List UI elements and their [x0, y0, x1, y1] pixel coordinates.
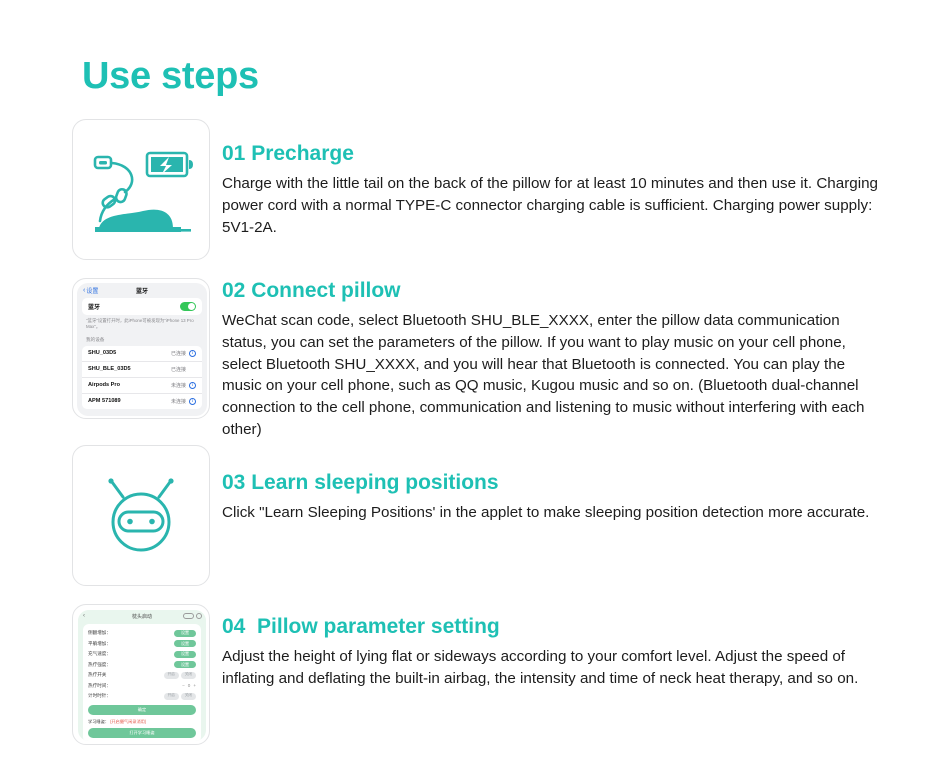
app-row-option-off[interactable]: 关闭: [181, 672, 196, 679]
step-02-body: 02 Connect pillow WeChat scan code, sele…: [222, 278, 882, 441]
step-02-thumbnail: ‹ 设置 蓝牙 蓝牙 "蓝牙"设置打开时，此iPhone可被发现为"iPhone…: [72, 278, 210, 419]
step-item-03: 03 Learn sleeping positions Click "Learn…: [72, 445, 882, 586]
bt-toggle-row[interactable]: 蓝牙: [82, 298, 202, 315]
step-01-text: Charge with the little tail on the back …: [222, 173, 882, 238]
bt-nav-title: 蓝牙: [77, 286, 207, 295]
app-row-label: 热疗开关: [88, 672, 106, 678]
step-item-01: 01 Precharge Charge with the little tail…: [72, 119, 882, 260]
bt-device-row[interactable]: APM 571089 未连接 i: [82, 394, 202, 409]
bt-device-name: SHU_03D5: [88, 350, 116, 356]
bt-device-name: SHU_BLE_03D5: [88, 366, 131, 372]
info-icon[interactable]: i: [189, 350, 196, 357]
app-nav-bar: ‹ 枕头启动: [78, 610, 206, 622]
app-learn-row: 学习睡姿： (开启摄气闲录消用): [88, 719, 196, 725]
bluetooth-toggle[interactable]: [180, 302, 196, 311]
phone-bluetooth-screenshot: ‹ 设置 蓝牙 蓝牙 "蓝牙"设置打开时，此iPhone可被发现为"iPhone…: [77, 283, 207, 416]
step-04-title: 04 Pillow parameter setting: [222, 614, 882, 639]
app-row-label: 侧翻增加：: [88, 630, 111, 636]
info-icon[interactable]: i: [189, 398, 196, 405]
step-04-thumbnail: ‹ 枕头启动 侧翻增加： 设置 平躺增加： 设置: [72, 604, 210, 745]
app-learn-note: (开启摄气闲录消用): [110, 719, 146, 725]
step-04-text: Adjust the height of lying flat or sidew…: [222, 646, 882, 689]
bt-device-status: 未连接: [171, 398, 186, 405]
bt-device-right: 已连接 i: [171, 366, 196, 373]
bt-device-name: APM 571089: [88, 398, 121, 404]
app-row-option-off[interactable]: 关闭: [181, 693, 196, 700]
bt-toggle-label: 蓝牙: [88, 302, 100, 311]
target-icon: [196, 613, 202, 619]
step-01-thumbnail: [72, 119, 210, 260]
capsule-icon: [183, 613, 194, 619]
app-row-action[interactable]: 设置: [174, 640, 196, 647]
bt-section-header: 我的设备: [77, 335, 207, 346]
app-submit-button[interactable]: 确定: [88, 705, 196, 715]
step-item-04: ‹ 枕头启动 侧翻增加： 设置 平躺增加： 设置: [72, 604, 882, 745]
app-status-icons: [183, 613, 202, 619]
app-row-toggle-pair[interactable]: 开启 关闭: [164, 672, 196, 679]
app-row-option-on[interactable]: 开启: [164, 693, 179, 700]
stepper-plus-icon[interactable]: +: [193, 683, 196, 688]
pillow-charging-icon: [81, 135, 201, 245]
bt-device-right: 未连接 i: [171, 398, 196, 405]
bt-device-right: 未连接 i: [171, 382, 196, 389]
app-row-label: 充气速度：: [88, 651, 111, 657]
step-03-body: 03 Learn sleeping positions Click "Learn…: [222, 445, 882, 524]
page-title: Use steps: [82, 55, 259, 98]
app-setting-row[interactable]: 侧翻增加： 设置: [88, 628, 196, 639]
step-03-text: Click "Learn Sleeping Positions' in the …: [222, 502, 882, 524]
app-learn-label: 学习睡姿：: [88, 719, 109, 725]
stepper-minus-icon[interactable]: −: [182, 683, 185, 688]
bt-nav-bar: ‹ 设置 蓝牙: [77, 283, 207, 298]
app-setting-row[interactable]: 热疗开关 开启 关闭: [88, 670, 196, 681]
bt-device-list: SHU_03D5 已连接 i SHU_BLE_03D5 已连接 i: [82, 346, 202, 409]
bt-device-row[interactable]: SHU_03D5 已连接 i: [82, 346, 202, 362]
step-03-thumbnail: [72, 445, 210, 586]
step-03-title: 03 Learn sleeping positions: [222, 470, 882, 495]
info-icon[interactable]: i: [189, 382, 196, 389]
phone-settings-screenshot: ‹ 枕头启动 侧翻增加： 设置 平躺增加： 设置: [78, 610, 206, 741]
app-learn-button[interactable]: 打开学习睡姿: [88, 728, 196, 738]
app-setting-row[interactable]: 热疗时间： − 0 +: [88, 681, 196, 692]
bt-device-name: Airpods Pro: [88, 382, 120, 388]
app-row-label: 热疗强度：: [88, 662, 111, 668]
use-steps-page: Use steps: [0, 0, 941, 780]
step-02-text: WeChat scan code, select Bluetooth SHU_B…: [222, 310, 882, 440]
bt-device-status: 已连接: [171, 350, 186, 357]
robot-face-icon: [89, 464, 193, 568]
app-row-stepper[interactable]: − 0 +: [182, 683, 196, 688]
bt-note: "蓝牙"设置打开时，此iPhone可被发现为"iPhone 13 Pro Max…: [77, 315, 207, 335]
app-row-option-on[interactable]: 开启: [164, 672, 179, 679]
step-01-title: 01 Precharge: [222, 141, 882, 166]
app-settings-card: 侧翻增加： 设置 平躺增加： 设置 充气速度： 设置 热疗强度： 设置: [83, 624, 201, 741]
bt-device-right: 已连接 i: [171, 350, 196, 357]
bt-device-row[interactable]: SHU_BLE_03D5 已连接 i: [82, 362, 202, 378]
step-04-body: 04 Pillow parameter setting Adjust the h…: [222, 604, 882, 690]
app-setting-row[interactable]: 平躺增加： 设置: [88, 639, 196, 650]
app-setting-row[interactable]: 充气速度： 设置: [88, 649, 196, 660]
app-row-action[interactable]: 设置: [174, 630, 196, 637]
app-row-toggle-pair[interactable]: 开启 关闭: [164, 693, 196, 700]
app-row-label: 热疗时间：: [88, 683, 111, 689]
app-row-action[interactable]: 设置: [174, 651, 196, 658]
app-setting-row[interactable]: 计时时针： 开启 关闭: [88, 691, 196, 702]
step-01-body: 01 Precharge Charge with the little tail…: [222, 119, 882, 238]
step-item-02: ‹ 设置 蓝牙 蓝牙 "蓝牙"设置打开时，此iPhone可被发现为"iPhone…: [72, 278, 882, 441]
bt-device-status: 已连接: [171, 366, 186, 373]
app-row-label: 平躺增加：: [88, 641, 111, 647]
step-02-title: 02 Connect pillow: [222, 278, 882, 303]
stepper-value: 0: [188, 683, 191, 688]
app-row-label: 计时时针：: [88, 693, 111, 699]
bt-device-row[interactable]: Airpods Pro 未连接 i: [82, 378, 202, 394]
app-row-action[interactable]: 设置: [174, 661, 196, 668]
bt-device-status: 未连接: [171, 382, 186, 389]
app-setting-row[interactable]: 热疗强度： 设置: [88, 660, 196, 671]
